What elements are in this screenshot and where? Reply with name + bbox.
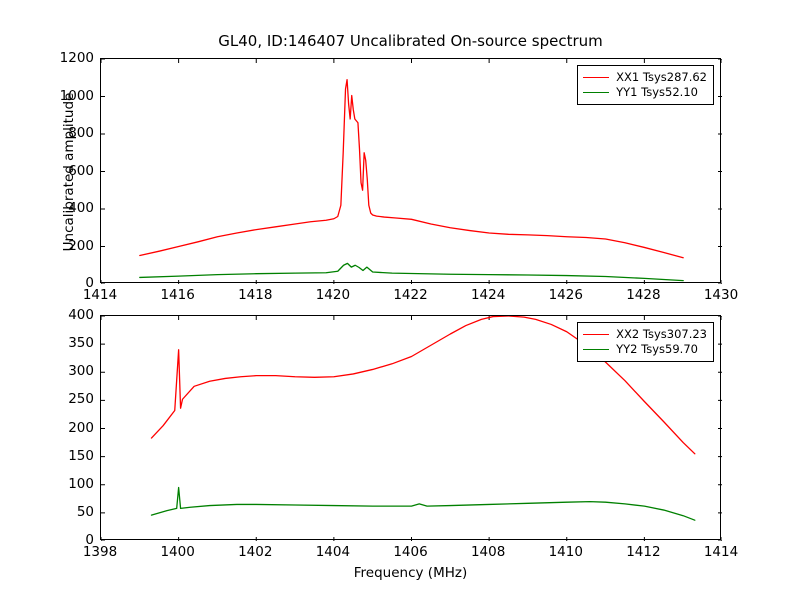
y-tick-label: 150 (42, 448, 94, 464)
x-tick-label: 1408 (458, 544, 518, 560)
y-tick-label: 300 (42, 363, 94, 379)
top-panel-legend: XX1 Tsys287.62 YY1 Tsys52.10 (577, 65, 714, 105)
legend-line-swatch-yy2 (583, 349, 609, 350)
x-axis-title: Frequency (MHz) (100, 565, 721, 581)
y-tick-label: 1000 (42, 88, 94, 104)
y-tick-label: 250 (42, 391, 94, 407)
y-tick-label: 100 (42, 476, 94, 492)
y-tick-label: 50 (42, 504, 94, 520)
bottom-panel-legend: XX2 Tsys307.23 YY2 Tsys59.70 (577, 322, 714, 362)
x-tick-label: 1412 (613, 544, 673, 560)
legend-line-swatch-yy1 (583, 92, 609, 93)
legend-label-yy1: YY1 Tsys52.10 (616, 85, 698, 100)
y-tick-label: 600 (42, 163, 94, 179)
x-tick-label: 1424 (458, 287, 518, 303)
y-tick-label: 0 (42, 275, 94, 291)
legend-entry: YY1 Tsys52.10 (583, 85, 707, 100)
legend-label-xx1: XX1 Tsys287.62 (616, 70, 707, 85)
series-line (151, 488, 694, 521)
x-tick-label: 1426 (536, 287, 596, 303)
legend-line-swatch-xx1 (583, 77, 609, 78)
x-tick-label: 1422 (381, 287, 441, 303)
series-line (140, 80, 683, 258)
x-tick-label: 1406 (381, 544, 441, 560)
x-tick-label: 1430 (691, 287, 751, 303)
legend-line-swatch-xx2 (583, 334, 609, 335)
x-tick-label: 1416 (148, 287, 208, 303)
y-tick-label: 800 (42, 125, 94, 141)
x-tick-label: 1404 (303, 544, 363, 560)
x-tick-label: 1410 (536, 544, 596, 560)
x-tick-label: 1400 (148, 544, 208, 560)
top-spectrum-panel: XX1 Tsys287.62 YY1 Tsys52.10 (100, 58, 721, 283)
legend-label-xx2: XX2 Tsys307.23 (616, 327, 707, 342)
x-tick-label: 1420 (303, 287, 363, 303)
x-tick-label: 1418 (225, 287, 285, 303)
x-tick-label: 1414 (691, 544, 751, 560)
figure-title: GL40, ID:146407 Uncalibrated On-source s… (100, 32, 721, 50)
y-tick-label: 350 (42, 335, 94, 351)
series-line (140, 263, 683, 280)
y-tick-label: 0 (42, 532, 94, 548)
y-tick-label: 200 (42, 420, 94, 436)
y-tick-label: 1200 (42, 50, 94, 66)
y-tick-label: 400 (42, 307, 94, 323)
x-tick-label: 1428 (613, 287, 673, 303)
legend-entry: XX1 Tsys287.62 (583, 70, 707, 85)
legend-label-yy2: YY2 Tsys59.70 (616, 342, 698, 357)
legend-entry: YY2 Tsys59.70 (583, 342, 707, 357)
legend-entry: XX2 Tsys307.23 (583, 327, 707, 342)
bottom-spectrum-panel: XX2 Tsys307.23 YY2 Tsys59.70 (100, 315, 721, 540)
x-tick-label: 1402 (225, 544, 285, 560)
spectrum-figure: GL40, ID:146407 Uncalibrated On-source s… (0, 0, 800, 600)
y-tick-label: 200 (42, 238, 94, 254)
y-tick-label: 400 (42, 200, 94, 216)
